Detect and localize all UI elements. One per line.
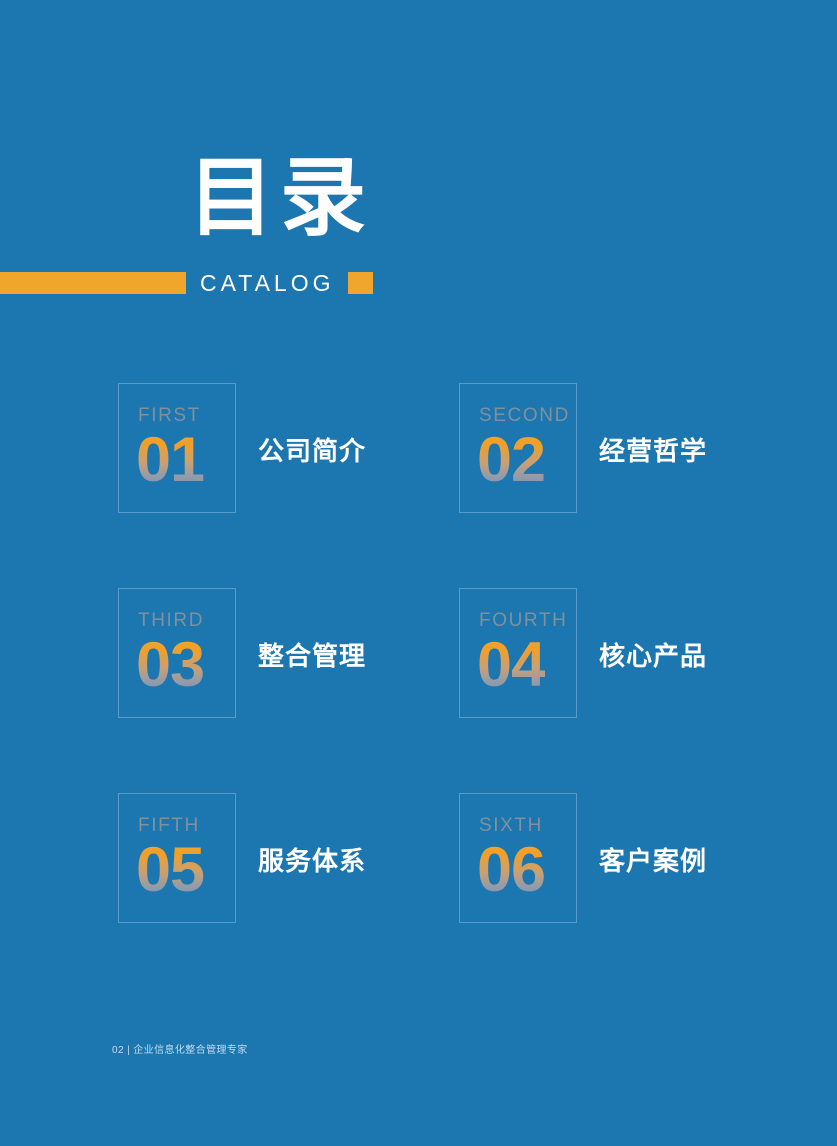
accent-bar-short (348, 272, 373, 294)
catalog-item-06[interactable]: SIXTH 06 客户案例 (459, 793, 779, 943)
card-number: 02 (477, 425, 545, 495)
card-eng-label: SIXTH (479, 815, 543, 837)
card-title: 公司简介 (258, 435, 366, 467)
page-subtitle: CATALOG (200, 270, 335, 296)
card-number: 05 (136, 835, 204, 905)
card-number: 06 (477, 835, 545, 905)
card-title: 客户案例 (599, 845, 707, 877)
accent-bar-long (0, 272, 186, 294)
catalog-item-02[interactable]: SECOND 02 经营哲学 (459, 383, 779, 533)
heading-block: 目录 CATALOG (0, 150, 837, 310)
card-eng-label: FIFTH (138, 815, 200, 837)
card-number: 01 (136, 425, 204, 495)
card-title: 整合管理 (258, 640, 366, 672)
page-title: 目录 (188, 150, 372, 246)
catalog-item-01[interactable]: FIRST 01 公司简介 (118, 383, 438, 533)
card-title: 服务体系 (258, 845, 366, 877)
subtitle-rule-row: CATALOG (0, 270, 837, 296)
footer-text: 02 | 企业信息化整合管理专家 (112, 1044, 248, 1058)
card-eng-label: THIRD (138, 610, 204, 632)
card-title: 核心产品 (599, 640, 707, 672)
card-number: 04 (477, 630, 545, 700)
catalog-slide: 目录 CATALOG FIRST 01 公司简介 SECOND 02 经营哲学 … (0, 0, 837, 1146)
card-title: 经营哲学 (599, 435, 707, 467)
card-number: 03 (136, 630, 204, 700)
card-eng-label: SECOND (479, 405, 570, 427)
catalog-item-04[interactable]: FOURTH 04 核心产品 (459, 588, 779, 738)
catalog-grid: FIRST 01 公司简介 SECOND 02 经营哲学 THIRD 03 整合… (118, 383, 758, 943)
catalog-item-03[interactable]: THIRD 03 整合管理 (118, 588, 438, 738)
card-eng-label: FOURTH (479, 610, 567, 632)
card-eng-label: FIRST (138, 405, 201, 427)
catalog-item-05[interactable]: FIFTH 05 服务体系 (118, 793, 438, 943)
